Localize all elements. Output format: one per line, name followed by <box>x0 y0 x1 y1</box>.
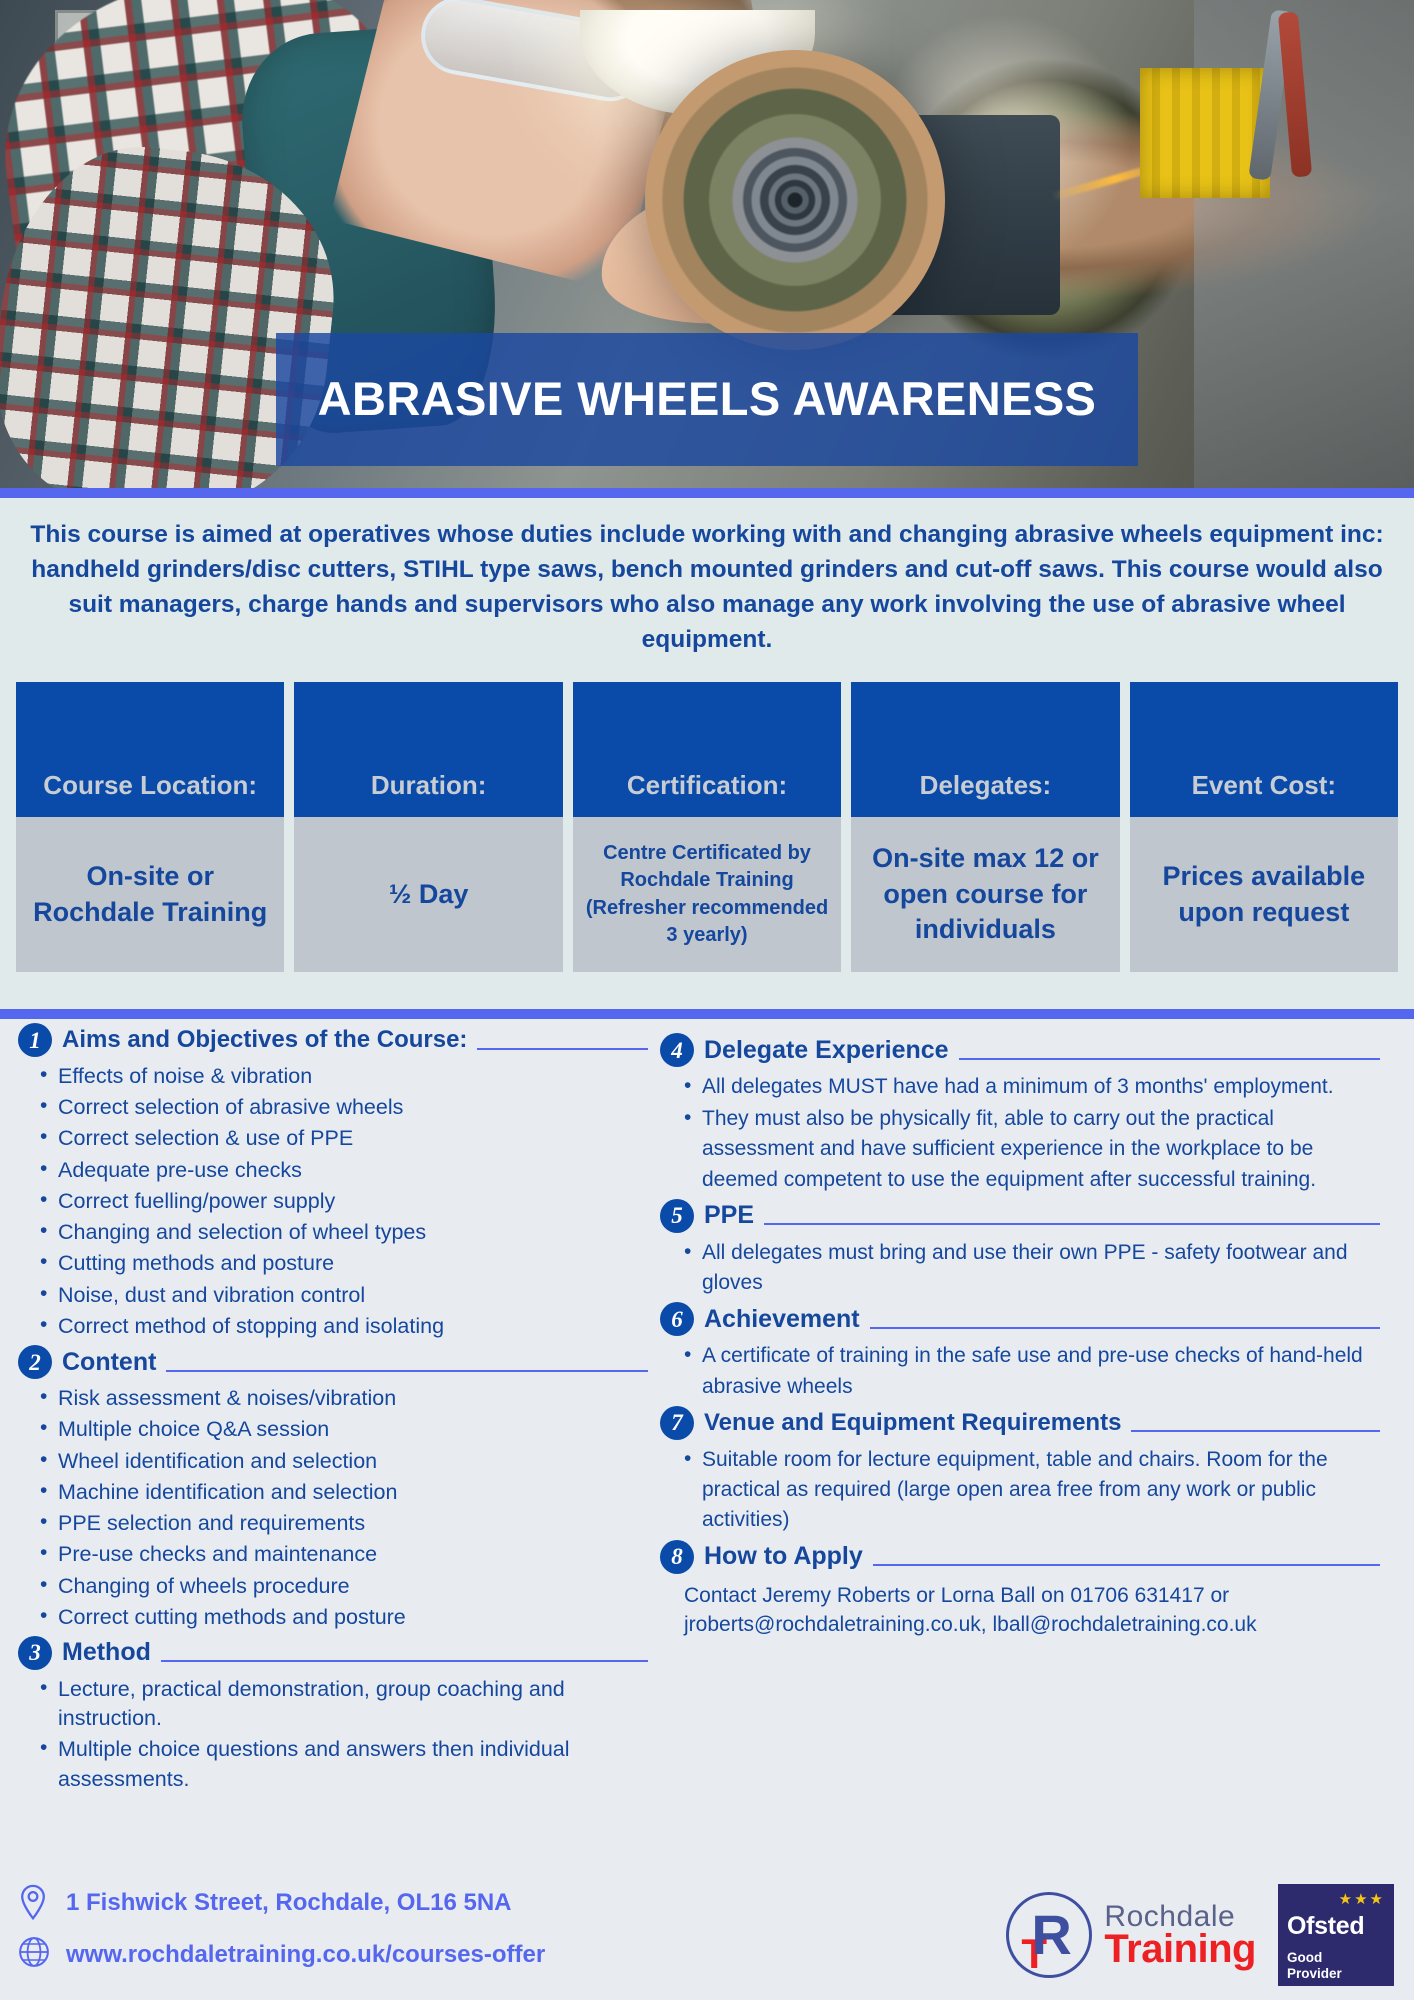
info-column: Certification:Centre Certificated by Roc… <box>573 682 841 972</box>
section-number-badge: 2 <box>18 1345 52 1379</box>
section-header: 2Content <box>18 1345 648 1379</box>
info-header-text: Course Location: <box>43 770 257 801</box>
list-item: A certificate of training in the safe us… <box>660 1341 1380 1401</box>
section-list: Effects of noise & vibrationCorrect sele… <box>18 1062 648 1341</box>
address-text: 1 Fishwick Street, Rochdale, OL16 5NA <box>66 1889 511 1917</box>
info-header-text: Event Cost: <box>1192 770 1336 801</box>
section-underline <box>870 1327 1380 1329</box>
section-header: 8How to Apply <box>660 1540 1380 1574</box>
info-column-header: Course Location: <box>16 682 284 817</box>
section-title: PPE <box>704 1201 754 1230</box>
course-details: 1Aims and Objectives of the Course:Effec… <box>0 1019 1414 2000</box>
list-item: Risk assessment & noises/vibration <box>18 1384 648 1413</box>
logo-letter-r: R <box>1031 1907 1071 1963</box>
section-number-badge: 1 <box>18 1023 52 1057</box>
website-row[interactable]: www.rochdaletraining.co.uk/courses-offer <box>18 1936 658 1974</box>
ofsted-rating-line2: Provider <box>1287 1966 1342 1981</box>
globe-icon <box>18 1936 52 1974</box>
section-list: Risk assessment & noises/vibrationMultip… <box>18 1384 648 1632</box>
list-item: Wheel identification and selection <box>18 1447 648 1476</box>
yellow-crate <box>1140 68 1270 198</box>
section-title: Method <box>62 1638 151 1667</box>
info-column-header: Delegates: <box>851 682 1119 817</box>
course-info-table: Course Location:On-site or Rochdale Trai… <box>16 682 1398 972</box>
section-5: 5PPEAll delegates must bring and use the… <box>660 1199 1380 1298</box>
section-number-badge: 7 <box>660 1406 694 1440</box>
map-pin-icon <box>18 1884 52 1922</box>
info-value-text: Prices available upon request <box>1140 859 1388 930</box>
right-column: 4Delegate ExperienceAll delegates MUST h… <box>660 1033 1380 1644</box>
info-column-header: Event Cost: <box>1130 682 1398 817</box>
rochdale-logo-wordmark: Rochdale Training <box>1104 1902 1256 1969</box>
hero-banner: ABRASIVE WHEELS AWARENESS <box>0 0 1414 488</box>
ofsted-rating: Good Provider <box>1287 1950 1385 1981</box>
course-title-banner: ABRASIVE WHEELS AWARENESS <box>276 333 1138 466</box>
section-underline <box>1131 1430 1380 1432</box>
abrasive-wheel-ring <box>645 50 945 350</box>
section-underline <box>477 1048 648 1050</box>
info-value-text: On-site or Rochdale Training <box>26 859 274 930</box>
rochdale-logo-mark: T R <box>1006 1892 1092 1978</box>
info-column-header: Certification: <box>573 682 841 817</box>
list-item: Changing and selection of wheel types <box>18 1218 648 1247</box>
section-header: 6Achievement <box>660 1302 1380 1336</box>
list-item: Suitable room for lecture equipment, tab… <box>660 1445 1380 1536</box>
logo-word-training: Training <box>1104 1929 1256 1969</box>
list-item: All delegates must bring and use their o… <box>660 1238 1380 1298</box>
info-column: Event Cost:Prices available upon request <box>1130 682 1398 972</box>
course-info-table-zone: Course Location:On-site or Rochdale Trai… <box>0 672 1414 1009</box>
info-column-header: Duration: <box>294 682 562 817</box>
info-column: Delegates:On-site max 12 or open course … <box>851 682 1119 972</box>
section-title: Delegate Experience <box>704 1036 949 1065</box>
ofsted-rating-line1: Good <box>1287 1950 1322 1965</box>
list-item: Correct cutting methods and posture <box>18 1603 648 1632</box>
section-title: Aims and Objectives of the Course: <box>62 1026 467 1054</box>
section-list: All delegates MUST have had a minimum of… <box>660 1072 1380 1195</box>
section-title: Venue and Equipment Requirements <box>704 1409 1121 1437</box>
section-title: Achievement <box>704 1305 860 1334</box>
left-column: 1Aims and Objectives of the Course:Effec… <box>18 1023 648 1798</box>
section-header: 4Delegate Experience <box>660 1033 1380 1067</box>
section-number-badge: 3 <box>18 1636 52 1670</box>
list-item: Noise, dust and vibration control <box>18 1281 648 1310</box>
list-item: Adequate pre-use checks <box>18 1156 648 1185</box>
footer-logos: T R Rochdale Training ★★★ Ofsted Good Pr… <box>1006 1884 1394 1986</box>
rochdale-training-logo: T R Rochdale Training <box>1006 1892 1256 1978</box>
info-value-text: ½ Day <box>389 877 469 913</box>
info-column-value: On-site or Rochdale Training <box>16 817 284 972</box>
info-column-value: Centre Certificated by Rochdale Training… <box>573 817 841 972</box>
section-title: Content <box>62 1348 156 1377</box>
list-item: Machine identification and selection <box>18 1478 648 1507</box>
intro-paragraph: This course is aimed at operatives whose… <box>27 518 1387 657</box>
list-item: Multiple choice questions and answers th… <box>18 1735 648 1793</box>
list-item: Correct method of stopping and isolating <box>18 1312 648 1341</box>
section-list: A certificate of training in the safe us… <box>660 1341 1380 1401</box>
section-3: 3MethodLecture, practical demonstration,… <box>18 1636 648 1794</box>
divider-top <box>0 488 1414 498</box>
section-underline <box>166 1370 648 1372</box>
list-item: PPE selection and requirements <box>18 1509 648 1538</box>
list-item: Effects of noise & vibration <box>18 1062 648 1091</box>
footer-contact: 1 Fishwick Street, Rochdale, OL16 5NA ww… <box>18 1884 658 1988</box>
section-paragraph: Contact Jeremy Roberts or Lorna Ball on … <box>684 1582 1380 1640</box>
section-6: 6AchievementA certificate of training in… <box>660 1302 1380 1401</box>
info-value-text: Centre Certificated by Rochdale Training… <box>583 840 831 949</box>
info-column-value: On-site max 12 or open course for indivi… <box>851 817 1119 972</box>
divider-middle <box>0 1009 1414 1019</box>
section-underline <box>161 1660 648 1662</box>
section-1: 1Aims and Objectives of the Course:Effec… <box>18 1023 648 1341</box>
list-item: Cutting methods and posture <box>18 1249 648 1278</box>
list-item: All delegates MUST have had a minimum of… <box>660 1072 1380 1102</box>
section-header: 3Method <box>18 1636 648 1670</box>
section-7: 7Venue and Equipment RequirementsSuitabl… <box>660 1406 1380 1536</box>
section-list: Lecture, practical demonstration, group … <box>18 1675 648 1794</box>
info-header-text: Delegates: <box>920 770 1052 801</box>
section-title: How to Apply <box>704 1542 863 1571</box>
section-underline <box>764 1223 1380 1225</box>
ofsted-badge: ★★★ Ofsted Good Provider <box>1278 1884 1394 1986</box>
section-number-badge: 5 <box>660 1199 694 1233</box>
section-number-badge: 6 <box>660 1302 694 1336</box>
info-header-text: Duration: <box>371 770 487 801</box>
website-text: www.rochdaletraining.co.uk/courses-offer <box>66 1941 545 1969</box>
ofsted-stars: ★★★ <box>1287 1892 1385 1907</box>
list-item: Pre-use checks and maintenance <box>18 1540 648 1569</box>
section-4: 4Delegate ExperienceAll delegates MUST h… <box>660 1033 1380 1195</box>
info-header-text: Certification: <box>627 770 787 801</box>
ofsted-name: Ofsted <box>1287 1912 1385 1941</box>
section-header: 1Aims and Objectives of the Course: <box>18 1023 648 1057</box>
list-item: They must also be physically fit, able t… <box>660 1104 1380 1195</box>
list-item: Correct fuelling/power supply <box>18 1187 648 1216</box>
info-value-text: On-site max 12 or open course for indivi… <box>861 841 1109 948</box>
info-column-value: ½ Day <box>294 817 562 972</box>
section-list: All delegates must bring and use their o… <box>660 1238 1380 1298</box>
list-item: Correct selection of abrasive wheels <box>18 1093 648 1122</box>
section-8: 8How to ApplyContact Jeremy Roberts or L… <box>660 1540 1380 1640</box>
section-number-badge: 4 <box>660 1033 694 1067</box>
info-column: Course Location:On-site or Rochdale Trai… <box>16 682 284 972</box>
section-header: 7Venue and Equipment Requirements <box>660 1406 1380 1440</box>
section-number-badge: 8 <box>660 1540 694 1574</box>
intro-section: This course is aimed at operatives whose… <box>0 498 1414 678</box>
section-list: Suitable room for lecture equipment, tab… <box>660 1445 1380 1536</box>
page-title: ABRASIVE WHEELS AWARENESS <box>308 374 1107 425</box>
list-item: Multiple choice Q&A session <box>18 1415 648 1444</box>
list-item: Changing of wheels procedure <box>18 1572 648 1601</box>
address-row: 1 Fishwick Street, Rochdale, OL16 5NA <box>18 1884 658 1922</box>
info-column: Duration:½ Day <box>294 682 562 972</box>
info-column-value: Prices available upon request <box>1130 817 1398 972</box>
section-underline <box>959 1058 1380 1060</box>
list-item: Lecture, practical demonstration, group … <box>18 1675 648 1733</box>
section-header: 5PPE <box>660 1199 1380 1233</box>
list-item: Correct selection & use of PPE <box>18 1124 648 1153</box>
section-underline <box>873 1564 1380 1566</box>
section-2: 2ContentRisk assessment & noises/vibrati… <box>18 1345 648 1632</box>
